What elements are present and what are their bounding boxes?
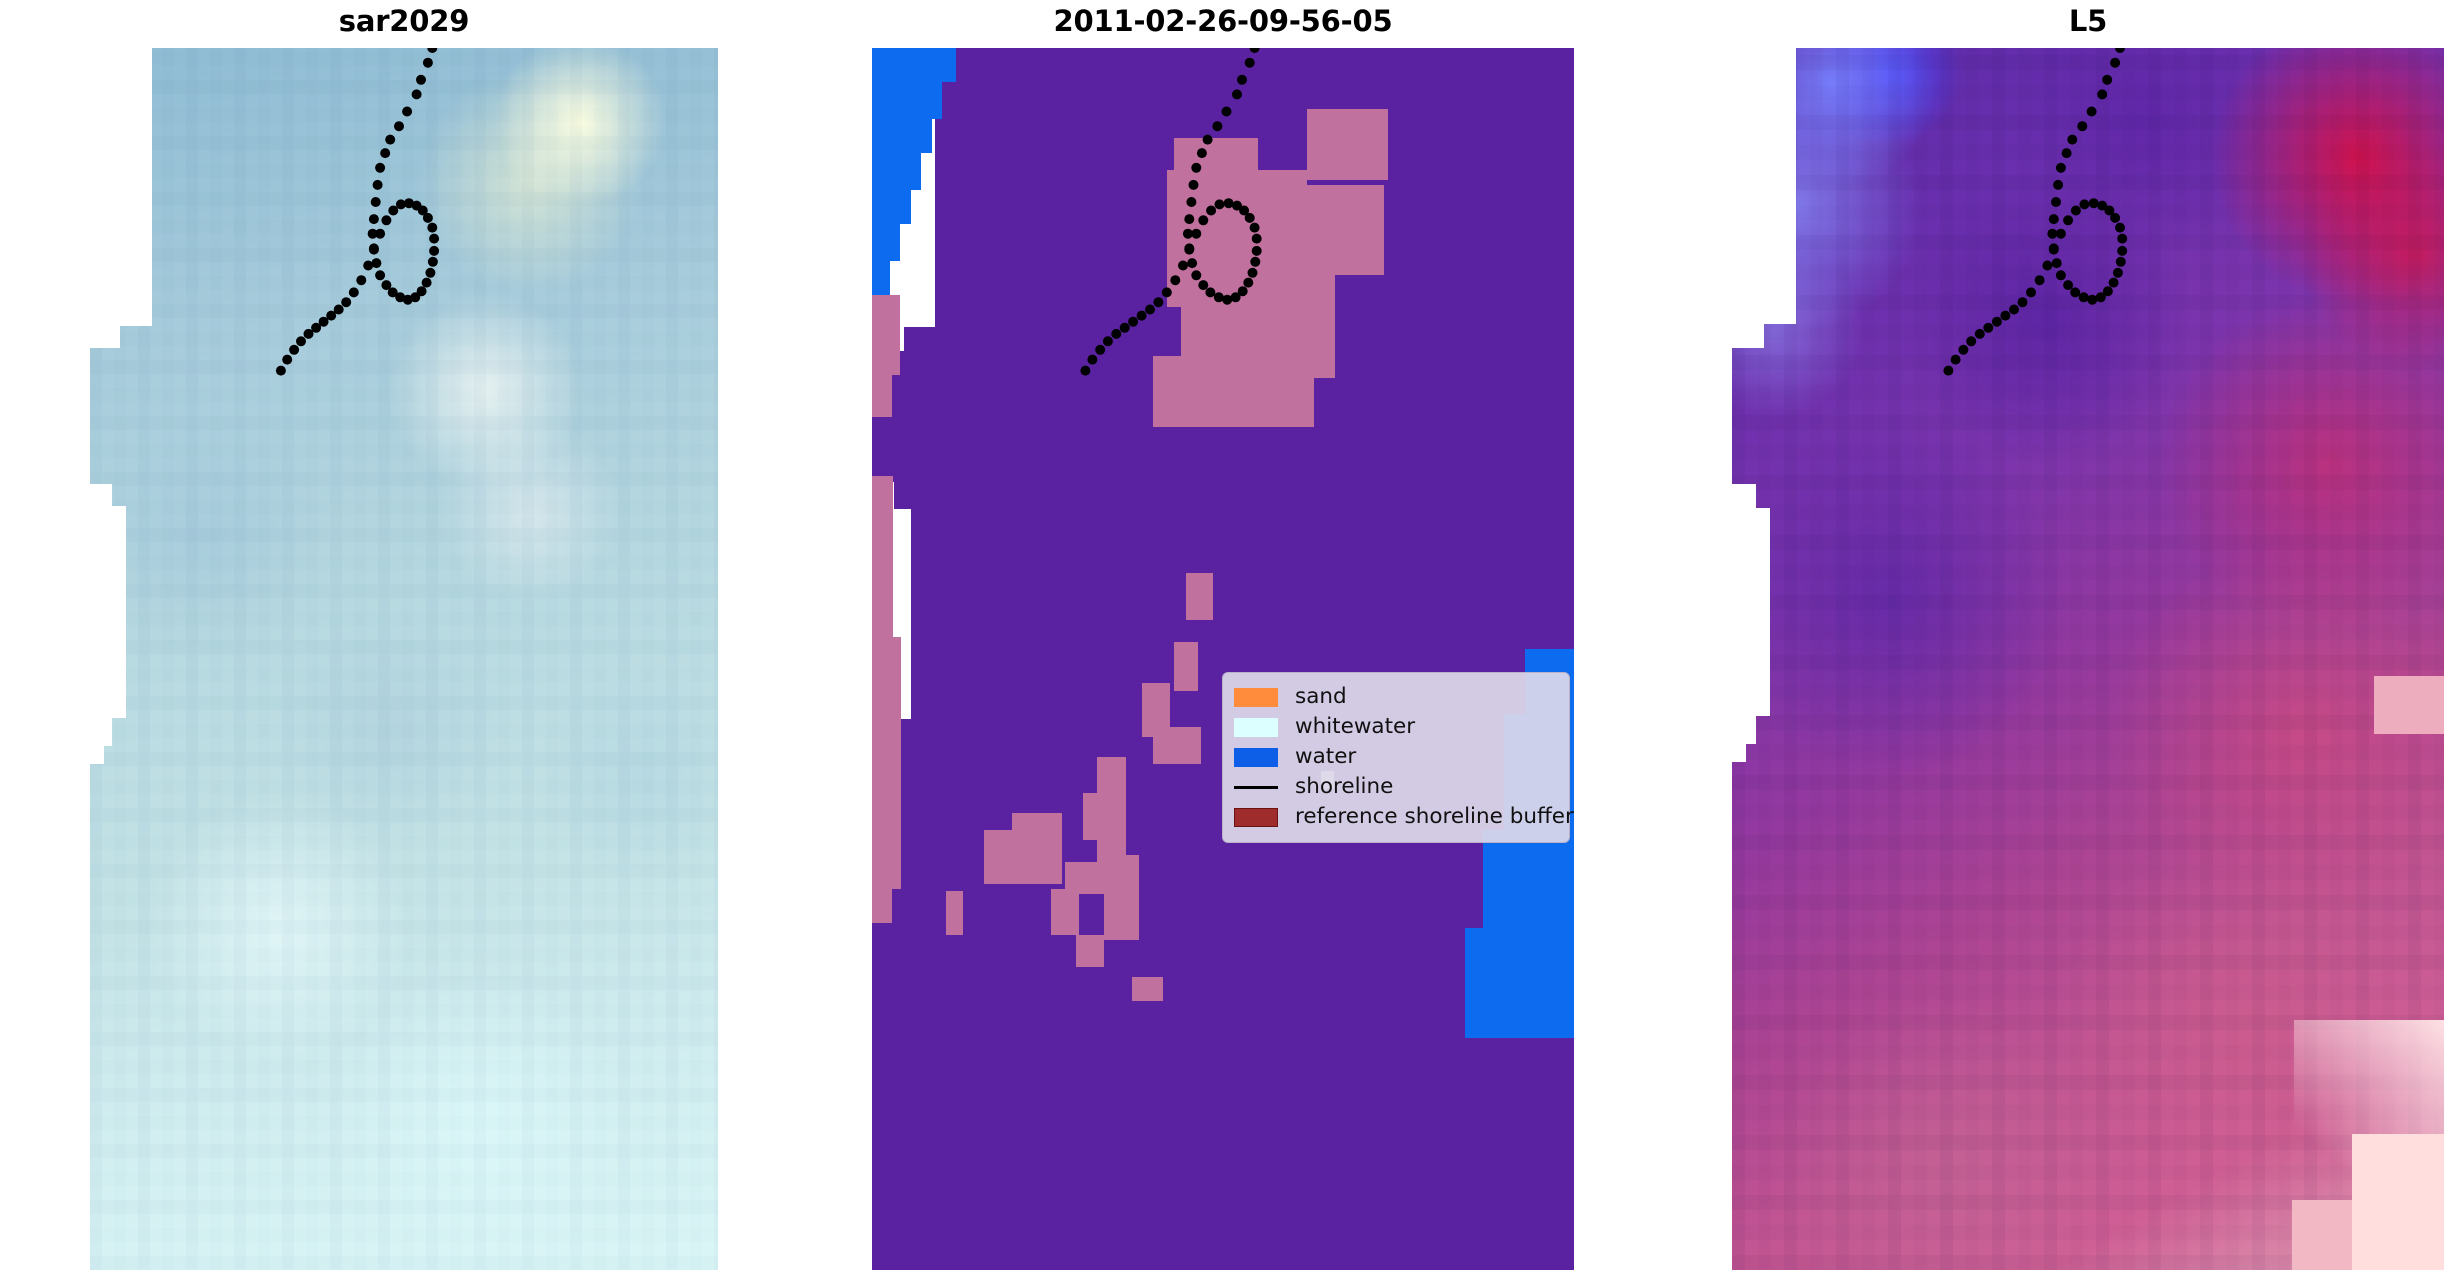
panel-classification-canvas	[872, 48, 1574, 1270]
l5-pale-corner	[2352, 1134, 2444, 1270]
legend-box[interactable]: sand whitewater water shoreline referenc…	[1222, 672, 1570, 843]
legend-swatch-sand-icon	[1234, 688, 1278, 707]
classified-water-patch	[872, 119, 932, 153]
classified-sand-patch	[1174, 642, 1198, 691]
raster-nodata-notch	[90, 506, 126, 718]
legend-label-shoreline: shoreline	[1295, 776, 1393, 798]
classified-sand-patch	[1307, 109, 1388, 180]
panel-title-sar: sar2029	[90, 4, 718, 40]
classified-sand-patch	[1153, 356, 1244, 427]
legend-item-whitewater[interactable]: whitewater	[1234, 712, 1558, 742]
legend-label-water: water	[1295, 746, 1356, 768]
raster-nodata-notch	[90, 48, 152, 326]
legend-swatch-whitewater-icon	[1234, 718, 1278, 737]
raster-nodata-notch	[1732, 48, 1796, 324]
panel-l5-canvas	[1732, 48, 2444, 1270]
classified-water-patch	[872, 48, 956, 82]
legend-swatch-water-icon	[1234, 748, 1278, 767]
classified-sand-patch	[1132, 977, 1163, 1001]
classification-patch-layer	[872, 48, 1574, 1270]
raster-nodata-notch	[1732, 484, 1756, 508]
classified-sand-patch	[872, 889, 892, 923]
raster-nodata-notch	[1732, 716, 1756, 744]
legend-label-reference-buffer: reference shoreline buffer	[1295, 806, 1574, 828]
legend-swatch-shoreline-line-icon	[1234, 778, 1278, 797]
classified-sand-patch	[872, 375, 892, 417]
panel-l5[interactable]	[1732, 48, 2444, 1270]
legend-swatch-reference-buffer-icon	[1234, 808, 1278, 827]
classified-water-patch	[872, 153, 921, 190]
sar-speckle-texture	[90, 48, 718, 1270]
raster-nodata-notch	[90, 718, 112, 746]
legend-label-sand: sand	[1295, 686, 1347, 708]
raster-nodata-notch	[1732, 508, 1770, 716]
classified-water-patch	[872, 224, 900, 261]
classified-sand-patch	[1076, 935, 1104, 967]
panel-sar-canvas	[90, 48, 718, 1270]
classified-water-patch	[872, 261, 890, 295]
classified-water-patch	[872, 190, 911, 224]
l5-pale-band	[2374, 676, 2444, 734]
panel-title-classification: 2011-02-26-09-56-05	[872, 4, 1574, 40]
raster-nodata-notch	[90, 326, 120, 348]
raster-nodata-notch	[1732, 324, 1764, 348]
figure-root: sar2029 2011-02-26-09-56-05 L5	[0, 0, 2444, 1283]
legend-item-shoreline[interactable]: shoreline	[1234, 772, 1558, 802]
raster-nodata-notch	[1732, 744, 1746, 762]
classified-sand-patch	[1104, 855, 1139, 941]
raster-nodata-notch	[90, 746, 104, 764]
classified-sand-patch	[1186, 573, 1213, 619]
classified-sand-patch	[1051, 889, 1079, 935]
classified-sand-patch	[1153, 727, 1201, 764]
legend-item-water[interactable]: water	[1234, 742, 1558, 772]
l5-pale-corner-mid	[2292, 1200, 2352, 1270]
panel-title-l5: L5	[1732, 4, 2444, 40]
classified-sand-patch	[872, 637, 901, 889]
legend-label-whitewater: whitewater	[1295, 716, 1415, 738]
raster-nodata-notch	[90, 484, 112, 506]
classified-sand-patch	[946, 891, 963, 935]
classified-sand-patch	[872, 476, 893, 637]
legend-item-sand[interactable]: sand	[1234, 682, 1558, 712]
panel-classification[interactable]	[872, 48, 1574, 1270]
classified-sand-patch	[872, 295, 900, 376]
classified-water-patch	[1465, 928, 1574, 1038]
panel-sar[interactable]	[90, 48, 718, 1270]
classified-sand-patch	[984, 830, 1061, 884]
legend-item-reference-buffer[interactable]: reference shoreline buffer	[1234, 802, 1558, 832]
classified-water-patch	[872, 82, 942, 119]
